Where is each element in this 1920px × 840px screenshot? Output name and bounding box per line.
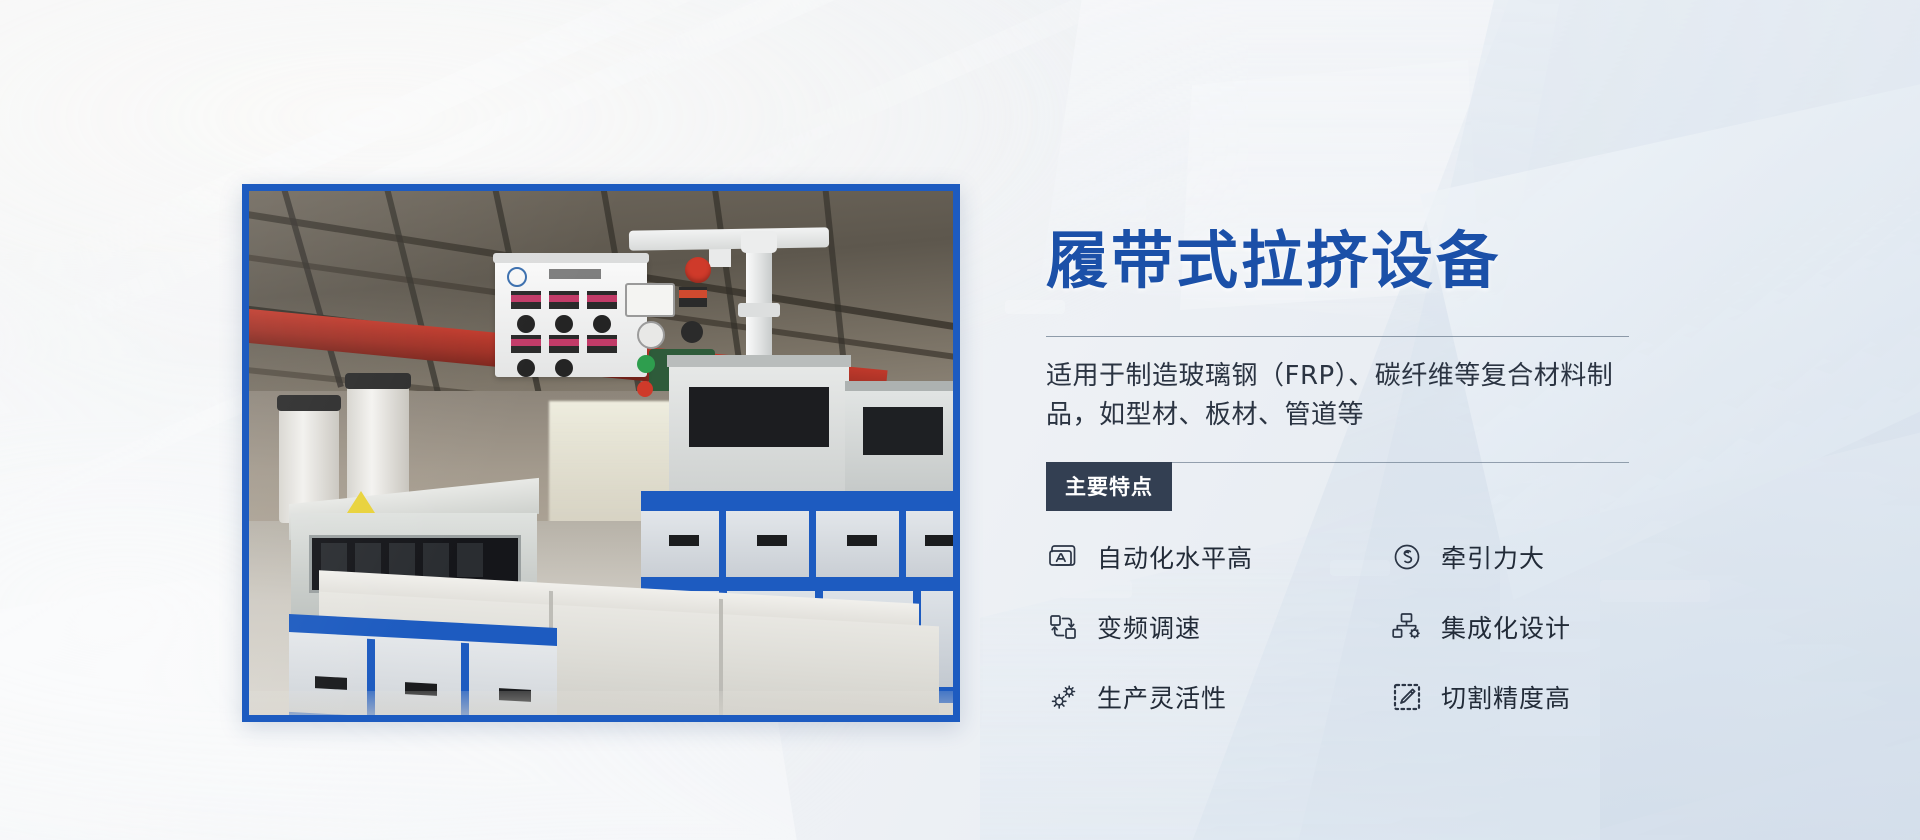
page-title: 履带式拉挤设备 — [1046, 228, 1686, 295]
product-photo-card[interactable] — [242, 184, 960, 722]
product-banner: 履带式拉挤设备 适用于制造玻璃钢（FRP）、碳纤维等复合材料制品，如型材、板材、… — [0, 0, 1920, 840]
feature-item-traction[interactable]: 牵引力大 — [1390, 539, 1690, 575]
feature-item-production-flexibility[interactable]: 生产灵活性 — [1046, 679, 1390, 715]
feature-label: 集成化设计 — [1441, 609, 1571, 645]
product-photo — [249, 191, 953, 715]
feature-item-frequency[interactable]: 变频调速 — [1046, 609, 1390, 645]
frequency-conversion-sync-icon — [1046, 610, 1080, 644]
banner-content: 履带式拉挤设备 适用于制造玻璃钢（FRP）、碳纤维等复合材料制品，如型材、板材、… — [1046, 186, 1686, 715]
feature-label: 切割精度高 — [1441, 679, 1571, 715]
banner-subtitle: 适用于制造玻璃钢（FRP）、碳纤维等复合材料制品，如型材、板材、管道等 — [1046, 357, 1646, 435]
features-heading-row: 主要特点 — [1046, 461, 1686, 503]
feature-label: 生产灵活性 — [1097, 679, 1227, 715]
feature-item-automation[interactable]: 自动化水平高 — [1046, 539, 1390, 575]
feature-list: 自动化水平高 牵引力大 — [1046, 539, 1686, 715]
feature-item-integrated-design[interactable]: 集成化设计 — [1390, 609, 1690, 645]
feature-item-cutting-precision[interactable]: 切割精度高 — [1390, 679, 1690, 715]
status-badge: 主要特点 — [1046, 462, 1172, 511]
feature-label: 自动化水平高 — [1097, 539, 1253, 575]
traction-wave-circle-icon — [1390, 540, 1424, 574]
title-divider — [1046, 336, 1629, 337]
automation-a-box-icon — [1046, 540, 1080, 574]
production-flexibility-gears-icon — [1046, 680, 1080, 714]
feature-label: 牵引力大 — [1441, 539, 1545, 575]
feature-label: 变频调速 — [1097, 609, 1201, 645]
integrated-design-sitemap-gear-icon — [1390, 610, 1424, 644]
cutting-precision-pen-icon — [1390, 680, 1424, 714]
